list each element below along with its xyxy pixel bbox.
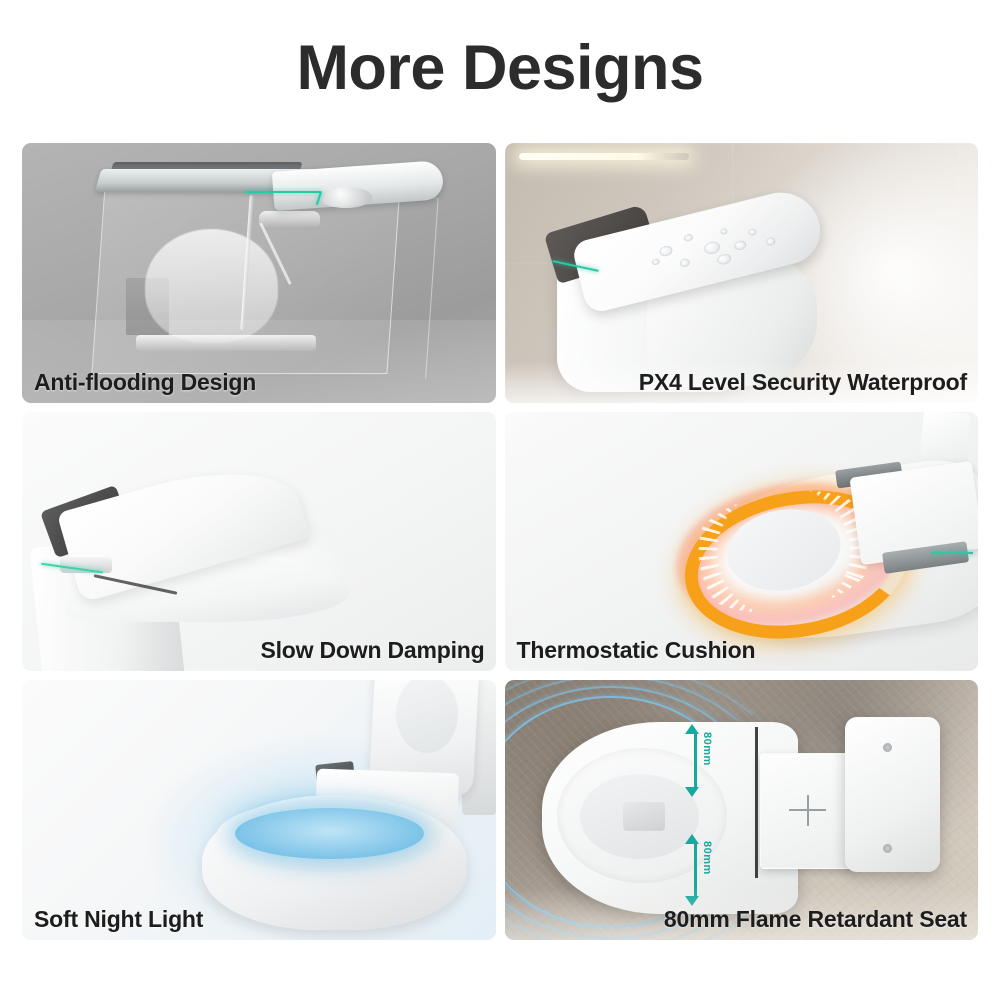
- product-feature-grid-page: More Designs Anti-flooding Design: [0, 0, 1000, 1000]
- seat-back-edge: [755, 727, 758, 878]
- anti-flooding-illustration: [22, 143, 496, 403]
- button-pad: [623, 802, 666, 831]
- screw-icon: [883, 743, 892, 752]
- dimension-label-upper: 80mm: [701, 732, 713, 766]
- panel-caption: Anti-flooding Design: [34, 369, 256, 396]
- accent-line-icon: [245, 191, 321, 193]
- illuminated-water: [235, 808, 424, 860]
- bowl-ghost: [145, 229, 278, 343]
- page-title: More Designs: [0, 32, 1000, 104]
- arrow-down-icon: [685, 787, 699, 797]
- panel-caption: Slow Down Damping: [260, 637, 484, 664]
- panel-caption: Thermostatic Cushion: [517, 637, 756, 664]
- slow-down-damping-illustration: [22, 412, 496, 672]
- water-droplet: [747, 228, 756, 237]
- water-droplet: [702, 240, 720, 256]
- soft-night-light-illustration: [22, 680, 496, 940]
- feature-panel-px4-waterproof[interactable]: PX4 Level Security Waterproof: [505, 143, 979, 403]
- water-droplet: [715, 252, 731, 265]
- panel-caption: PX4 Level Security Waterproof: [639, 369, 967, 396]
- water-droplet: [765, 237, 776, 247]
- flame-retardant-seat-illustration: 80mm 80mm: [505, 680, 979, 940]
- dimension-label-lower: 80mm: [701, 841, 713, 875]
- water-droplet: [719, 228, 727, 236]
- px4-waterproof-illustration: [505, 143, 979, 403]
- lid-inner-ring: [396, 680, 458, 753]
- tank-cover: [845, 717, 940, 873]
- panel-caption: Soft Night Light: [34, 906, 203, 933]
- feature-panel-thermostatic-cushion[interactable]: Thermostatic Cushion: [505, 412, 979, 672]
- feature-panel-anti-flooding[interactable]: Anti-flooding Design: [22, 143, 496, 403]
- water-droplet: [682, 233, 692, 242]
- nozzle-detail: [320, 187, 372, 208]
- accent-line-icon: [931, 552, 974, 554]
- feature-panel-flame-retardant-seat[interactable]: 80mm 80mm 80mm Flame Retardant Seat: [505, 680, 979, 940]
- plus-glyph-icon: [789, 795, 827, 826]
- feature-panel-grid: Anti-flooding Design: [22, 143, 978, 940]
- arrow-up-icon: [685, 834, 699, 844]
- water-droplet: [658, 245, 673, 258]
- arrow-up-icon: [685, 724, 699, 734]
- feature-panel-soft-night-light[interactable]: Soft Night Light: [22, 680, 496, 940]
- water-droplet: [679, 258, 691, 268]
- thermostatic-cushion-illustration: [505, 412, 979, 672]
- panel-caption: 80mm Flame Retardant Seat: [664, 906, 967, 933]
- feature-panel-slow-down-damping[interactable]: Slow Down Damping: [22, 412, 496, 672]
- water-droplet: [732, 240, 746, 252]
- valve-assembly: [259, 211, 321, 229]
- ceiling-light-strip: [519, 153, 689, 160]
- water-droplet: [650, 258, 659, 266]
- dimension-line-upper: [694, 732, 697, 789]
- base-plate: [136, 335, 316, 351]
